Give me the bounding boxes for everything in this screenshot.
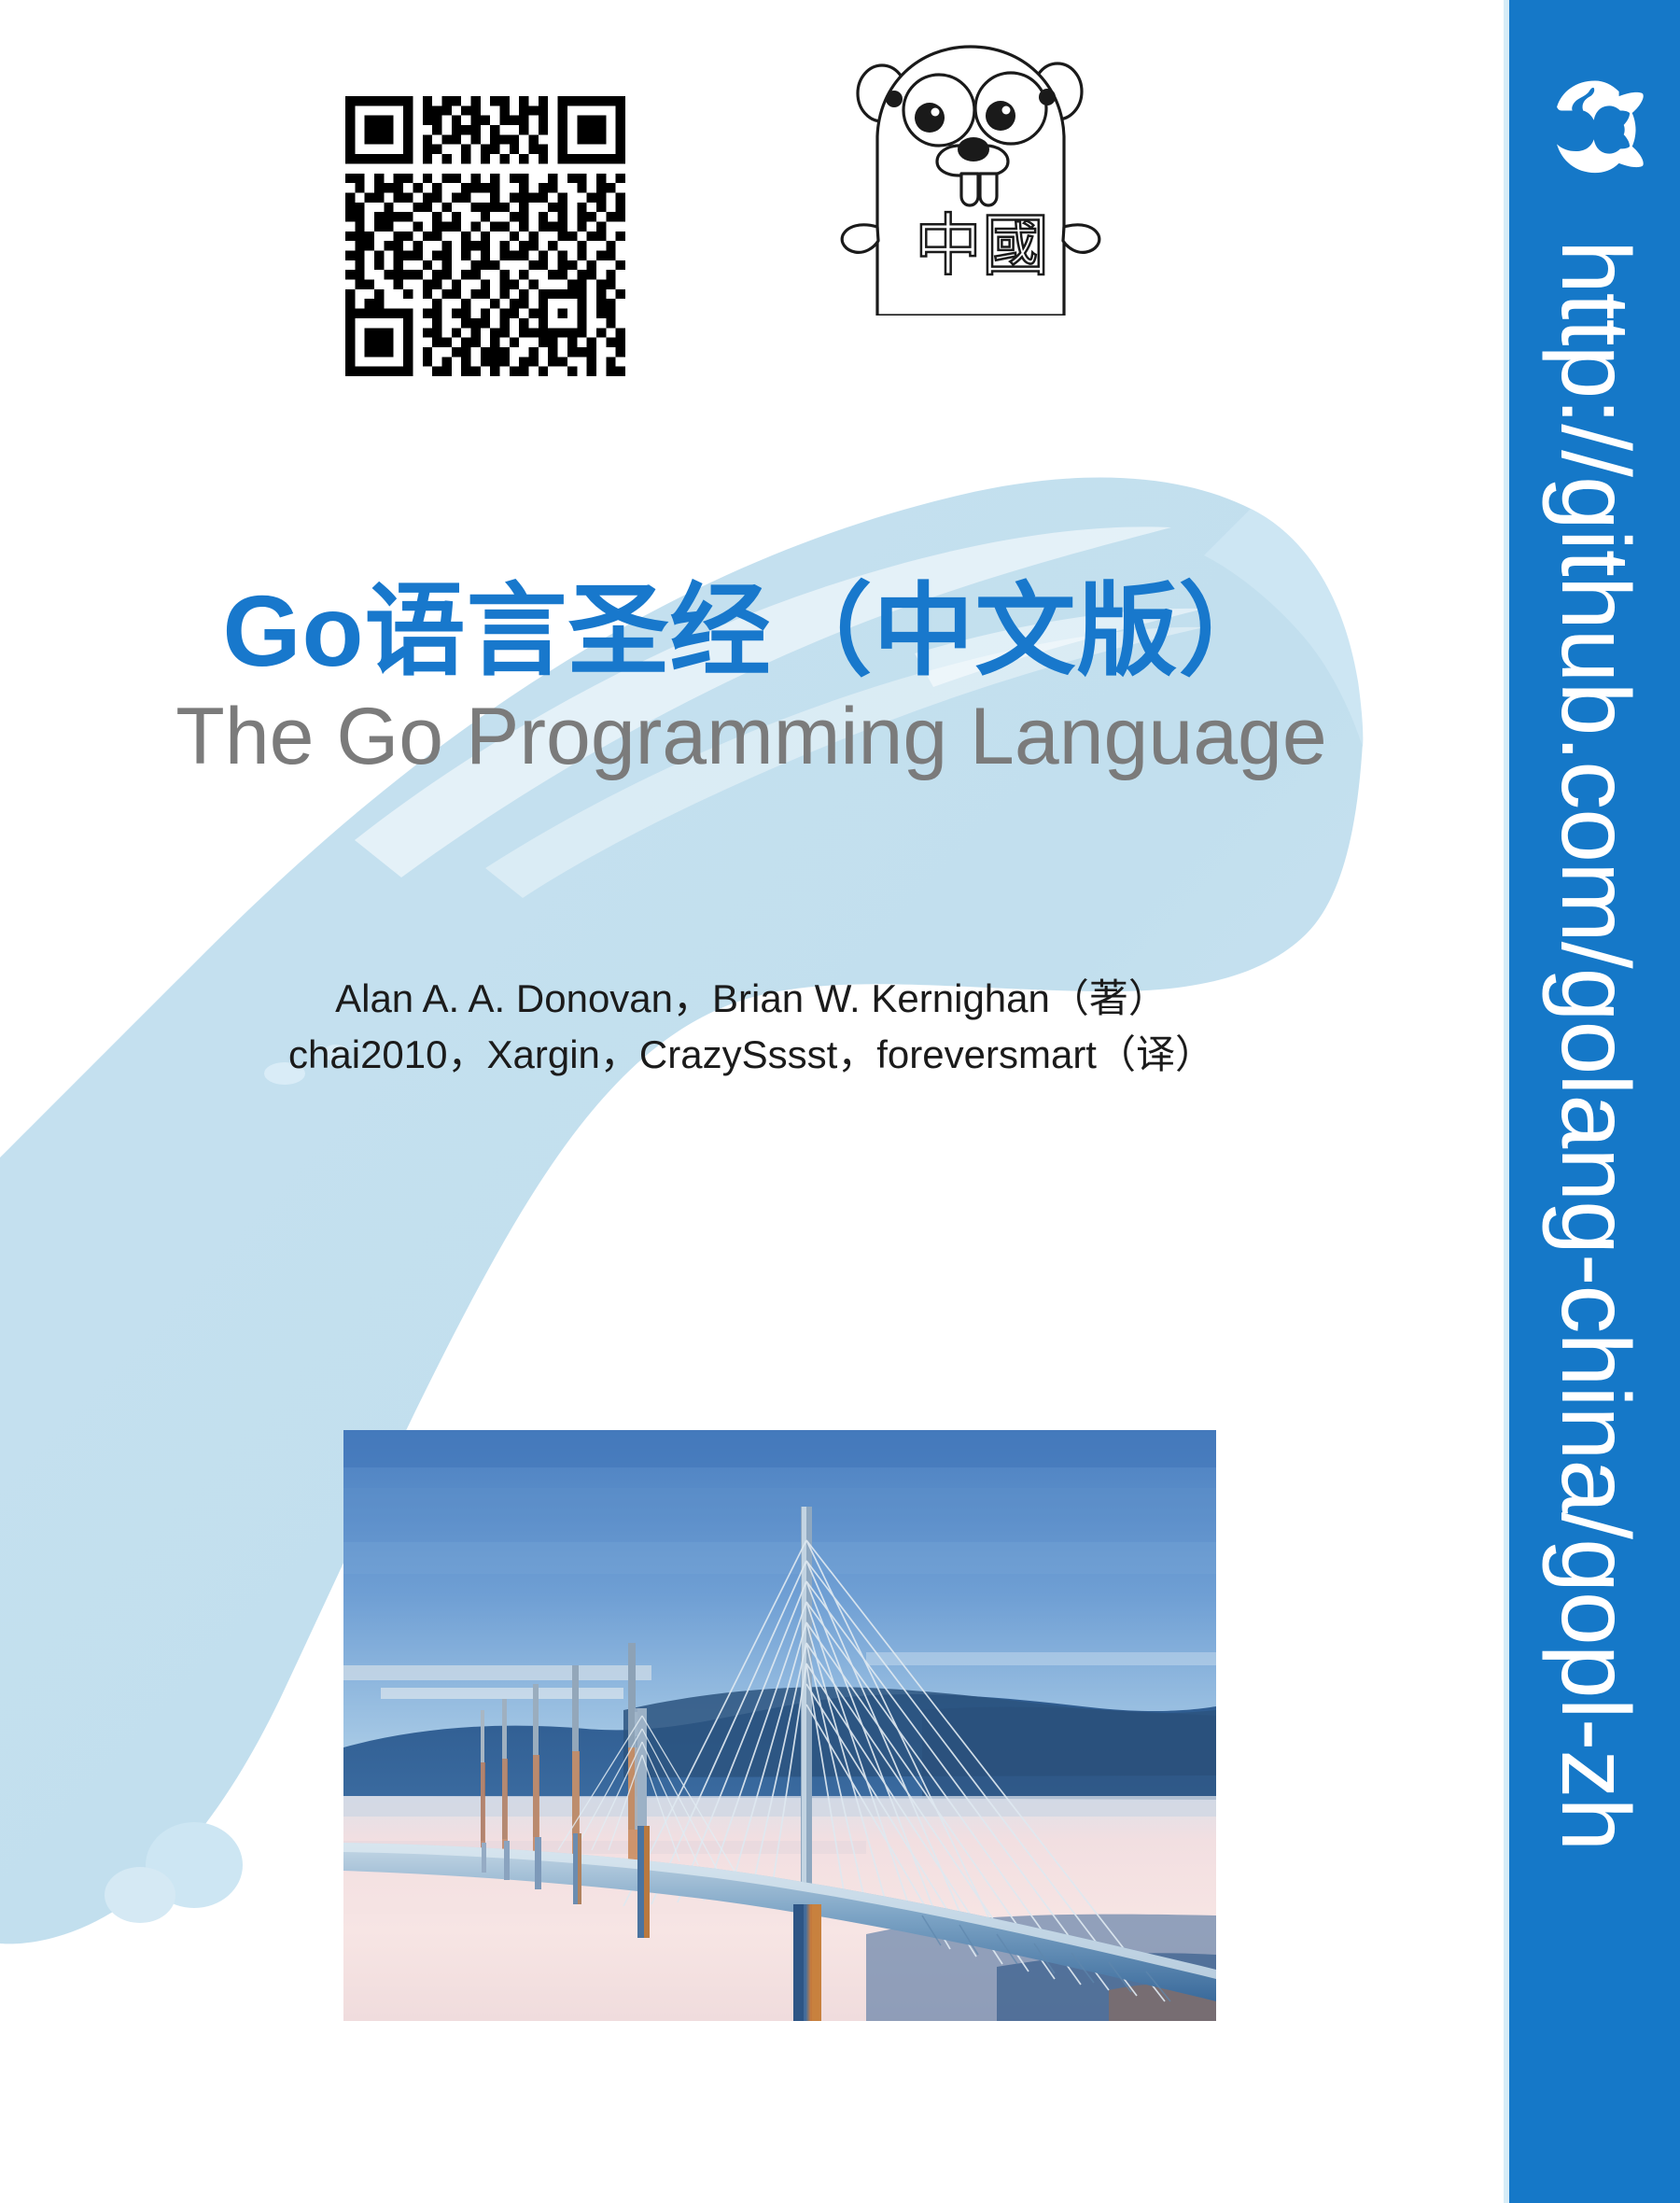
svg-text:國: 國 — [982, 206, 1049, 285]
cover-photo-millau-viaduct — [343, 1430, 1216, 2021]
book-cover: 中 國 Go语言圣经（中文版） The Go Programming Langu… — [0, 0, 1680, 2203]
qr-code-icon — [325, 96, 646, 376]
gopher-belly-text: 中 國 — [915, 206, 1049, 285]
github-url-container[interactable]: http://github.com/golang-china/gopl-zh — [1509, 215, 1680, 2138]
github-url-text[interactable]: http://github.com/golang-china/gopl-zh — [1539, 240, 1650, 1850]
book-title-english: The Go Programming Language — [0, 692, 1503, 781]
github-sidebar: http://github.com/golang-china/gopl-zh — [1509, 0, 1680, 2203]
authors-line: Alan A. A. Donovan，Brian W. Kernighan（著） — [0, 971, 1503, 1027]
title-block: Go语言圣经（中文版） The Go Programming Language — [0, 577, 1503, 781]
svg-text:中: 中 — [915, 206, 982, 285]
github-octocat-icon — [1535, 70, 1655, 189]
go-gopher-mascot-icon: 中 國 — [840, 35, 1101, 316]
authors-block: Alan A. A. Donovan，Brian W. Kernighan（著）… — [0, 971, 1503, 1082]
translators-line: chai2010，Xargin，CrazySssst，foreversmart（… — [0, 1027, 1503, 1083]
book-title-chinese: Go语言圣经（中文版） — [0, 577, 1503, 686]
